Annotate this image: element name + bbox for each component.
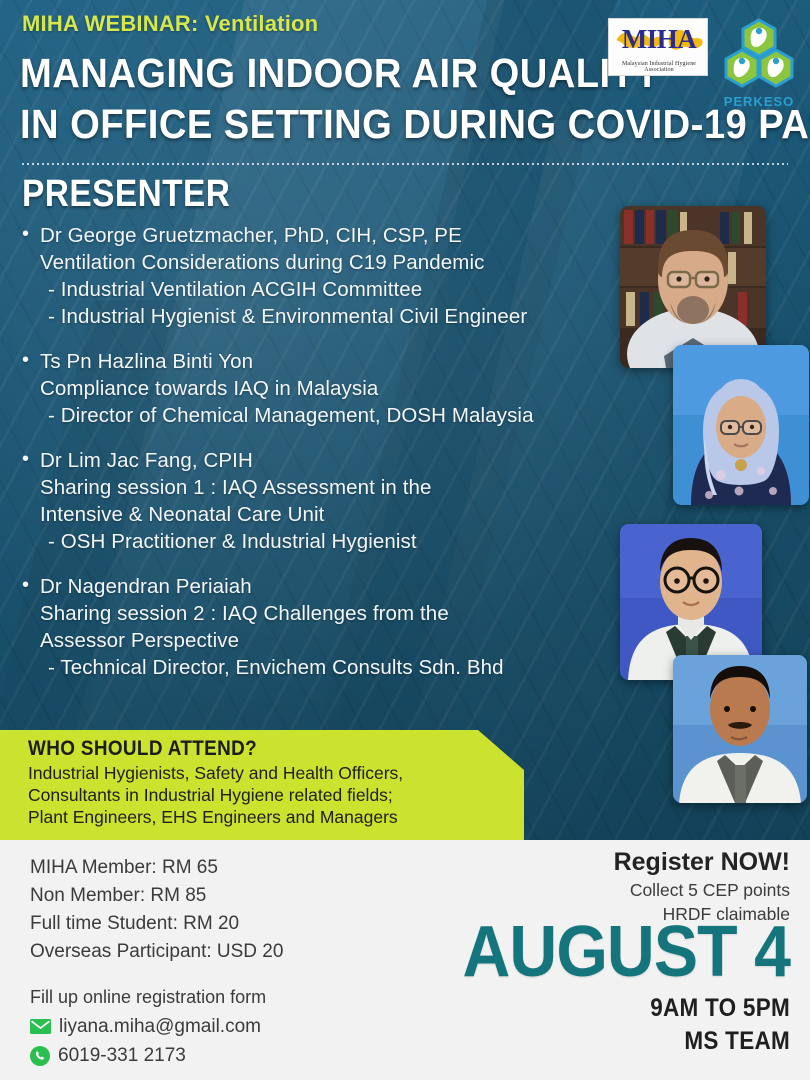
- bottom-info-panel: MIHA Member: RM 65 Non Member: RM 85 Ful…: [0, 840, 810, 1080]
- avatar: [620, 206, 766, 368]
- attend-line-3: Plant Engineers, EHS Engineers and Manag…: [28, 806, 398, 828]
- email-address: liyana.miha@gmail.com: [59, 1016, 261, 1038]
- fee-row: Non Member: RM 85: [30, 882, 283, 910]
- webinar-poster: MIHA WEBINAR: Ventilation MANAGING INDOO…: [0, 0, 810, 1080]
- presenter-topic-cont: Intensive & Neonatal Care Unit: [18, 501, 638, 528]
- whatsapp-icon: [30, 1046, 50, 1066]
- who-should-attend-banner: WHO SHOULD ATTEND? Industrial Hygienists…: [0, 730, 524, 840]
- event-time-platform: 9AM TO 5PM MS TEAM: [484, 992, 790, 1058]
- event-date: AUGUST 4: [462, 913, 790, 991]
- presenter-photo-george: [620, 206, 766, 368]
- presenter-photo-hazlina: [673, 345, 809, 505]
- presenter-role: - Industrial Hygienist & Environmental C…: [18, 303, 638, 330]
- avatar: [673, 655, 807, 803]
- event-platform: MS TEAM: [484, 1025, 790, 1058]
- perkeso-logo: PERKESO: [720, 16, 798, 108]
- phone-number: 6019-331 2173: [58, 1045, 186, 1067]
- miha-logo: MIHA Malaysian Industrial Hygiene Associ…: [608, 18, 708, 76]
- presenter-name: Ts Pn Hazlina Binti Yon: [18, 348, 638, 375]
- presenter-topic: Ventilation Considerations during C19 Pa…: [18, 249, 638, 276]
- presenter-heading: PRESENTER: [22, 172, 230, 216]
- title-line-2: IN OFFICE SETTING DURING COVID-19 PANDEM…: [20, 99, 745, 150]
- presenter-topic-cont: Assessor Perspective: [18, 627, 638, 654]
- email-row[interactable]: liyana.miha@gmail.com: [30, 1012, 261, 1041]
- presenter-name: Dr George Gruetzmacher, PhD, CIH, CSP, P…: [18, 222, 638, 249]
- attend-line-1: Industrial Hygienists, Safety and Health…: [28, 762, 403, 784]
- presenter-name: Dr Nagendran Periaiah: [18, 573, 638, 600]
- cep-points: Collect 5 CEP points: [430, 878, 790, 902]
- fee-row: Full time Student: RM 20: [30, 910, 283, 938]
- presenter-name: Dr Lim Jac Fang, CPIH: [18, 447, 638, 474]
- presenter-role: - Technical Director, Envichem Consults …: [18, 654, 638, 681]
- fee-list: MIHA Member: RM 65 Non Member: RM 85 Ful…: [30, 854, 283, 966]
- presenter-photo-nagendran: [673, 655, 807, 803]
- perkeso-hexagon-leaf-icon: [720, 16, 798, 92]
- contact-block: liyana.miha@gmail.com 6019-331 2173: [30, 1012, 261, 1070]
- attend-title: WHO SHOULD ATTEND?: [28, 736, 257, 762]
- webinar-kicker: MIHA WEBINAR: Ventilation: [22, 11, 318, 37]
- presenter-list: Dr George Gruetzmacher, PhD, CIH, CSP, P…: [18, 222, 638, 699]
- miha-logo-caption: Malaysian Industrial Hygiene Association: [609, 61, 708, 73]
- attend-line-2: Consultants in Industrial Hygiene relate…: [28, 784, 393, 806]
- registration-note: Fill up online registration form: [30, 985, 266, 1010]
- phone-row[interactable]: 6019-331 2173: [30, 1041, 261, 1070]
- presenter-topic: Sharing session 2 : IAQ Challenges from …: [18, 600, 638, 627]
- register-cta: Register NOW!: [430, 846, 790, 878]
- title-line-1: MANAGING INDOOR AIR QUALITY: [20, 50, 660, 96]
- event-time: 9AM TO 5PM: [484, 992, 790, 1025]
- perkeso-logo-word: PERKESO: [720, 94, 798, 109]
- fee-row: Overseas Participant: USD 20: [30, 938, 283, 966]
- miha-logo-word: MIHA: [609, 24, 708, 54]
- fee-row: MIHA Member: RM 65: [30, 854, 283, 882]
- presenter-topic: Sharing session 1 : IAQ Assessment in th…: [18, 474, 638, 501]
- avatar: [673, 345, 809, 505]
- presenter-role: - Industrial Ventilation ACGIH Committee: [18, 276, 638, 303]
- presenter-topic: Compliance towards IAQ in Malaysia: [18, 375, 638, 402]
- presenter-role: - OSH Practitioner & Industrial Hygienis…: [18, 528, 638, 555]
- presenter-item: Dr Lim Jac Fang, CPIH Sharing session 1 …: [18, 447, 638, 555]
- presenter-item: Dr George Gruetzmacher, PhD, CIH, CSP, P…: [18, 222, 638, 330]
- presenter-item: Ts Pn Hazlina Binti Yon Compliance towar…: [18, 348, 638, 429]
- header-divider: [22, 163, 788, 165]
- presenter-role: - Director of Chemical Management, DOSH …: [18, 402, 638, 429]
- presenter-item: Dr Nagendran Periaiah Sharing session 2 …: [18, 573, 638, 681]
- email-icon: [30, 1019, 51, 1034]
